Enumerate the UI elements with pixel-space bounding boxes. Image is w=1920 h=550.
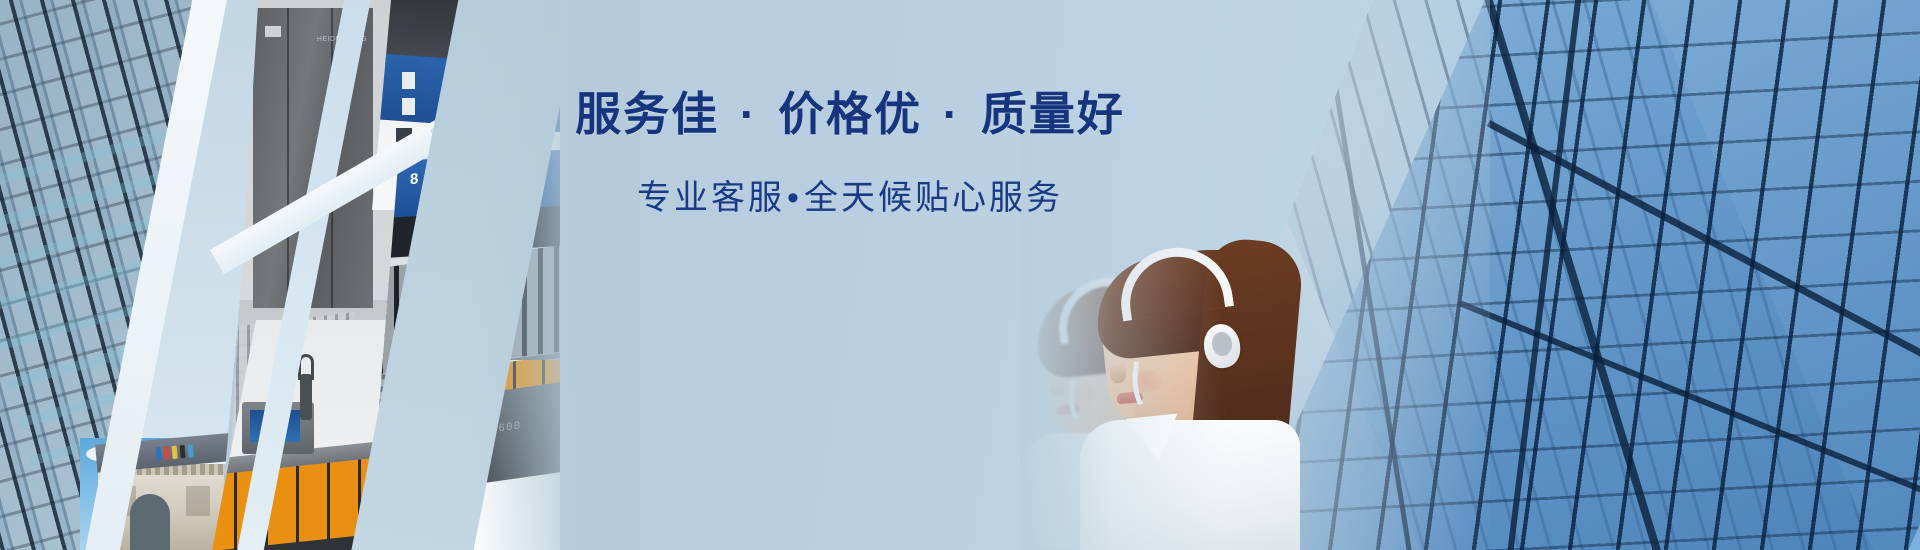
banner-headline: 服务佳 · 价格优 · 质量好	[540, 86, 1160, 144]
collage-right-fade	[470, 0, 640, 550]
csr-nose	[1109, 362, 1127, 384]
headline-part-1: 服务佳	[575, 88, 719, 140]
arc-archway	[130, 494, 170, 550]
router-tool-arm	[300, 374, 312, 420]
ink-cartridges	[156, 444, 194, 460]
csr-collar	[1126, 413, 1183, 464]
csr-white-shirt	[1080, 420, 1300, 550]
subline-part-2: 全天候贴心服务	[804, 179, 1063, 217]
headline-part-3: 质量好	[981, 88, 1125, 140]
press-sticker	[265, 26, 281, 37]
headline-part-2: 价格优	[778, 88, 922, 140]
subline-part-1: 专业客服	[637, 179, 785, 217]
banner-subline: 专业客服•全天候贴心服务	[540, 170, 1160, 219]
headline-separator-1: ·	[734, 88, 763, 140]
service-banner: HEIDELBERG BEDIENUNGSANLEITUNG MASCHINE	[0, 0, 1920, 550]
headline-separator-2: ·	[937, 88, 966, 140]
subline-separator: •	[785, 179, 804, 217]
banner-copy: 服务佳 · 价格优 · 质量好 专业客服•全天候贴心服务	[540, 86, 1160, 219]
